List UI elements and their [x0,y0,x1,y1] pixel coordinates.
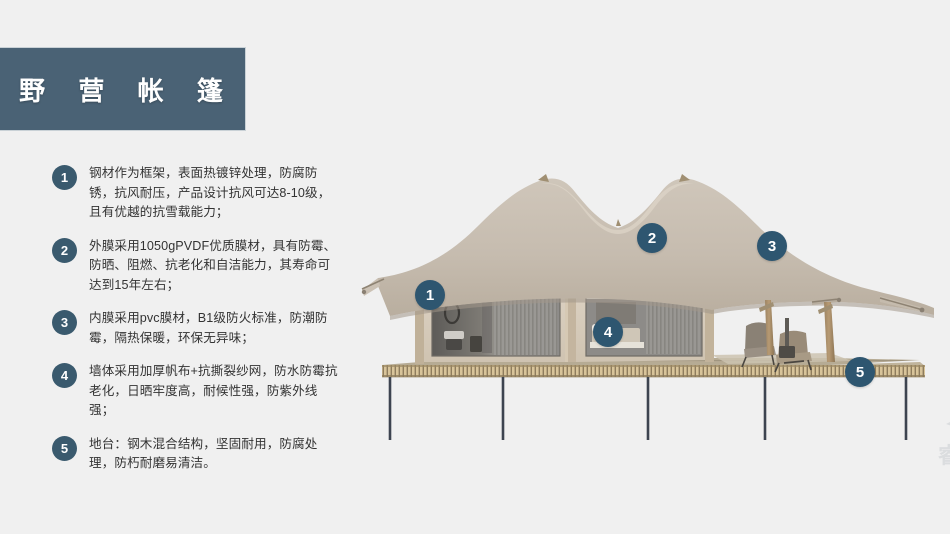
deck-platform [382,358,925,440]
tent-marker-1[interactable]: 1 [415,280,445,310]
feature-item-3: 3 内膜采用pvc膜材，B1级防火标准，防潮防霉，隔热保暖，环保无异味； [52,309,342,348]
feature-badge-3: 3 [52,310,77,335]
title-banner: 野 营 帐 篷 [0,47,246,131]
tent-marker-5[interactable]: 5 [845,357,875,387]
feature-item-1: 1 钢材作为框架，表面热镀锌处理，防腐防锈，抗风耐压，产品设计抗风可达8-10级… [52,164,342,223]
page-title: 野 营 帐 篷 [6,71,236,108]
feature-text-2: 外膜采用1050gPVDF优质膜材，具有防霉、防晒、阻燃、抗老化和自洁能力，其寿… [89,237,342,296]
feature-text-3: 内膜采用pvc膜材，B1级防火标准，防潮防霉，隔热保暖，环保无异味； [89,309,342,348]
tent-drawing [360,150,945,450]
feature-item-5: 5 地台：钢木混合结构，坚固耐用，防腐处理，防朽耐磨易清洁。 [52,435,342,474]
feature-text-5: 地台：钢木混合结构，坚固耐用，防腐处理，防朽耐磨易清洁。 [89,435,342,474]
feature-item-2: 2 外膜采用1050gPVDF优质膜材，具有防霉、防晒、阻燃、抗老化和自洁能力，… [52,237,342,296]
feature-badge-2: 2 [52,238,77,263]
feature-item-4: 4 墙体采用加厚帆布+抗撕裂纱网，防水防霉抗老化，日晒牢度高，耐候性强，防紫外线… [52,362,342,421]
feature-text-4: 墙体采用加厚帆布+抗撕裂纱网，防水防霉抗老化，日晒牢度高，耐候性强，防紫外线强； [89,362,342,421]
feature-list: 1 钢材作为框架，表面热镀锌处理，防腐防锈，抗风耐压，产品设计抗风可达8-10级… [52,164,342,488]
deck-legs [390,377,906,440]
slide-canvas: 野 营 帐 篷 1 钢材作为框架，表面热镀锌处理，防腐防锈，抗风耐压，产品设计抗… [0,0,950,534]
tent-illustration: 睿湘营居 [360,150,945,450]
tent-marker-3[interactable]: 3 [757,231,787,261]
feature-badge-1: 1 [52,165,77,190]
tent-marker-4[interactable]: 4 [593,317,623,347]
feature-badge-4: 4 [52,363,77,388]
feature-badge-5: 5 [52,436,77,461]
tent-marker-2[interactable]: 2 [637,223,667,253]
feature-text-1: 钢材作为框架，表面热镀锌处理，防腐防锈，抗风耐压，产品设计抗风可达8-10级，且… [89,164,342,223]
